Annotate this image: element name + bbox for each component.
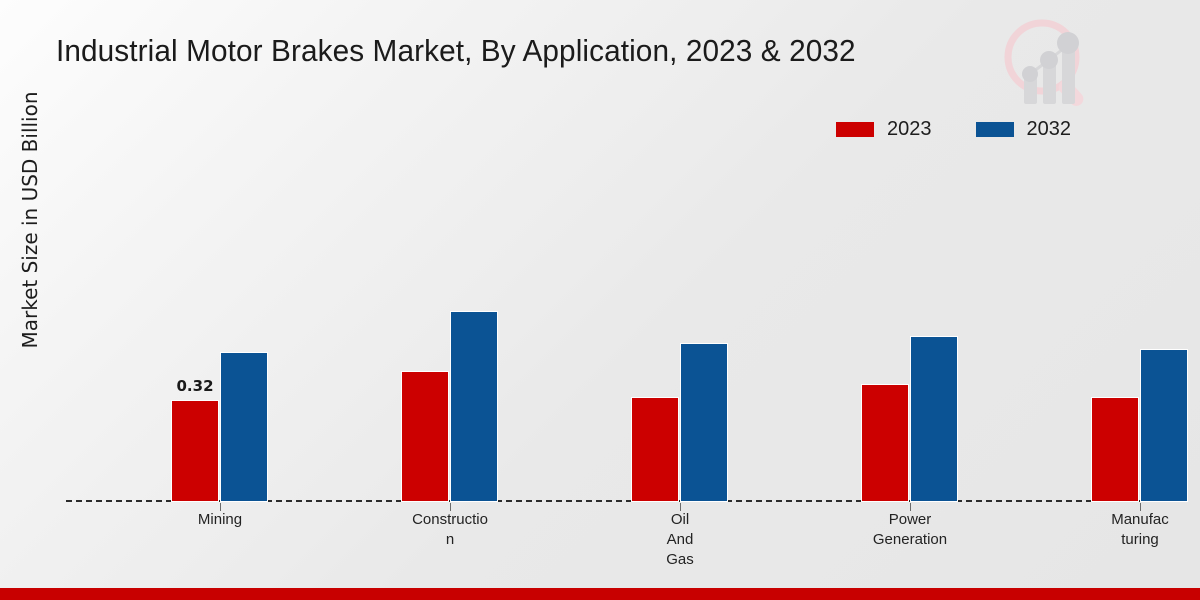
bar-group: OilAndGas	[570, 150, 790, 502]
x-axis-label-mining: Mining	[155, 510, 285, 530]
bar-oil-and-gas-2032[interactable]	[680, 343, 728, 503]
bar-manufacturing-2023[interactable]	[1091, 397, 1139, 502]
x-axis-label-manufacturing: Manufacturing	[1075, 510, 1200, 550]
legend-item-2023[interactable]: 2023	[836, 119, 932, 139]
x-axis-label-power-generation: PowerGeneration	[845, 510, 975, 550]
footer-bar	[0, 588, 1200, 600]
bar-construction-2032[interactable]	[450, 311, 498, 502]
bar-power-generation-2032[interactable]	[910, 336, 958, 502]
bar-power-generation-2023[interactable]	[861, 384, 909, 502]
bar-group: 0.32Mining	[110, 150, 330, 502]
chart-container: Industrial Motor Brakes Market, By Appli…	[0, 0, 1200, 600]
bar-group: PowerGeneration	[800, 150, 1020, 502]
y-axis-title: Market Size in USD Billion	[18, 40, 42, 400]
legend-item-2032[interactable]: 2032	[976, 119, 1072, 139]
bar-group: Construction	[340, 150, 560, 502]
bar-manufacturing-2032[interactable]	[1140, 349, 1188, 502]
bar-group: Manufacturing	[1030, 150, 1200, 502]
legend-label-2032: 2032	[1027, 119, 1072, 139]
bar-value-label: 0.32	[176, 377, 213, 395]
bar-mining-2032[interactable]	[220, 352, 268, 502]
legend-label-2023: 2023	[887, 119, 932, 139]
bar-oil-and-gas-2023[interactable]	[631, 397, 679, 502]
plot-area: 0.32MiningConstructionOilAndGasPowerGene…	[48, 150, 1188, 502]
x-axis-label-oil-and-gas: OilAndGas	[615, 510, 745, 570]
chart-legend: 2023 2032	[836, 119, 1071, 139]
x-axis-label-construction: Construction	[385, 510, 515, 550]
legend-swatch-2032-icon	[976, 122, 1014, 137]
bar-construction-2023[interactable]	[401, 371, 449, 502]
chart-title: Industrial Motor Brakes Market, By Appli…	[56, 33, 856, 69]
bar-mining-2023[interactable]	[171, 400, 219, 502]
legend-swatch-2023-icon	[836, 122, 874, 137]
magnifying-glass-bar-chart-logo-icon	[997, 12, 1105, 114]
